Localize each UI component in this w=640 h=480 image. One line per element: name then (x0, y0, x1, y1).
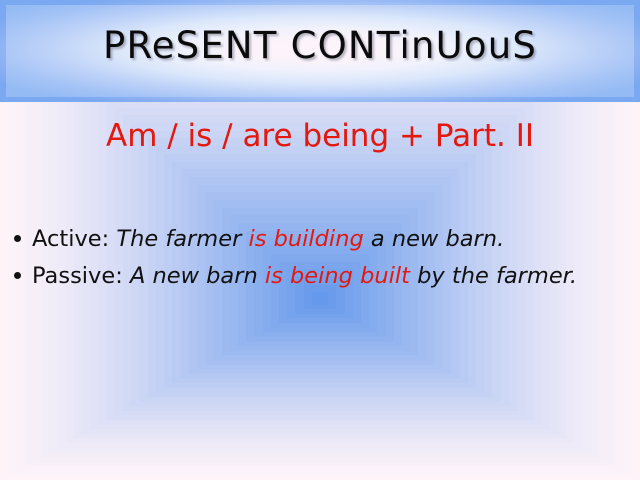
example-list: Active: The farmer is building a new bar… (8, 224, 630, 298)
voice-label: Active: (32, 226, 109, 252)
slide-canvas: PReSENT CONTinUouS Am / is / are being +… (0, 0, 640, 480)
example-post: by the farmer. (417, 263, 577, 289)
example-post: a new barn. (371, 226, 504, 252)
round-bullet-icon (14, 235, 21, 242)
page-title: PReSENT CONTinUouS (0, 24, 640, 67)
example-pre: The farmer (116, 226, 241, 252)
list-item: Active: The farmer is building a new bar… (8, 224, 630, 255)
voice-label: Passive: (32, 263, 123, 289)
slide-body: Am / is / are being + Part. II Active: T… (0, 102, 640, 480)
example-highlight: is being built (265, 263, 410, 289)
example-highlight: is building (248, 226, 363, 252)
example-pre: A new barn (130, 263, 258, 289)
round-bullet-icon (14, 272, 21, 279)
formula-subtitle: Am / is / are being + Part. II (0, 118, 640, 154)
list-item: Passive: A new barn is being built by th… (8, 261, 630, 292)
